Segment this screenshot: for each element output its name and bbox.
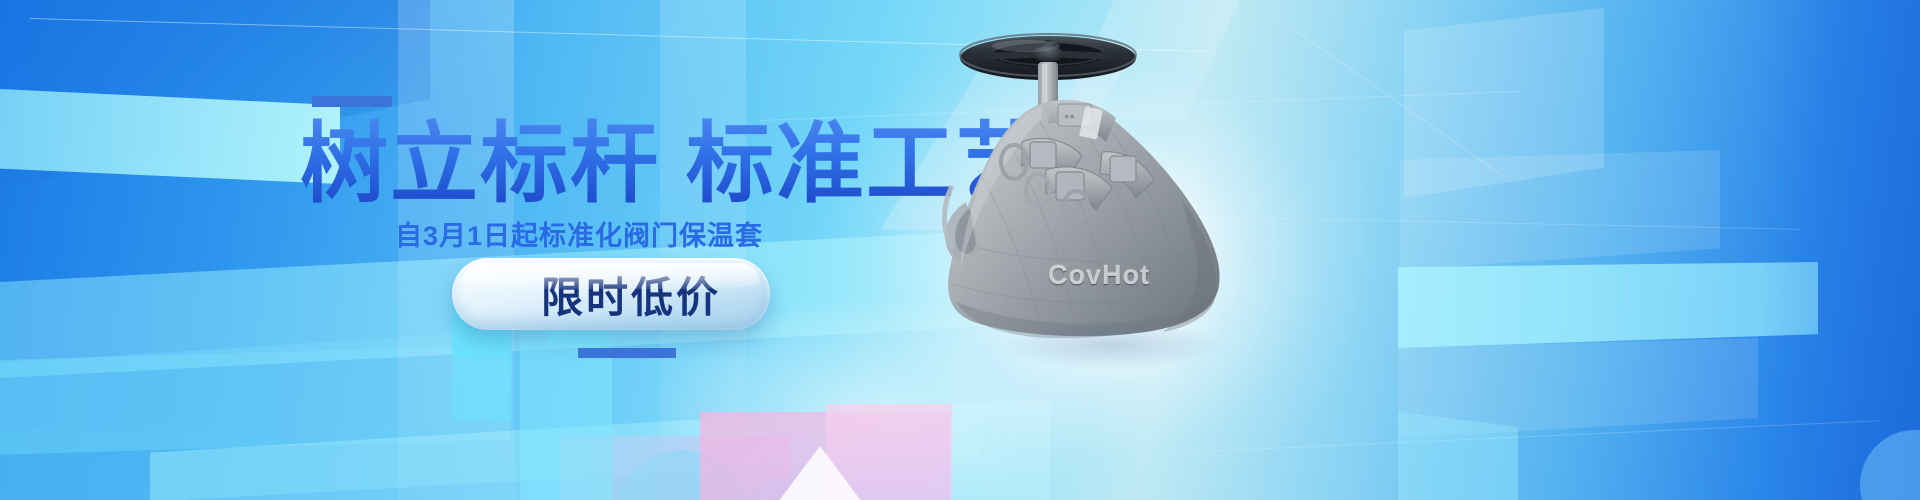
cta-button[interactable]: 限时低价 [452,258,770,330]
subtitle: 自3月1日起标准化阀门保温套 [395,214,763,253]
headline-top-dash [312,96,392,107]
product-shadow [950,310,1270,380]
svg-text:●●: ●● [1064,111,1075,121]
headline-part1: 树立标杆 [300,114,660,213]
cta-bottom-dash [578,348,676,358]
copy-block: 树立标杆标准工艺 自3月1日起标准化阀门保温套 限时低价 [0,0,960,500]
bg-right-pane-2 [1400,150,1720,270]
bg-right-band-cyan [1398,262,1818,348]
cta-label: 限时低价 [541,264,721,325]
bg-right-pane-5 [1398,412,1518,500]
promo-banner: 树立标杆标准工艺 自3月1日起标准化阀门保温套 限时低价 [0,0,1920,500]
product-image: ●● [930,10,1290,430]
